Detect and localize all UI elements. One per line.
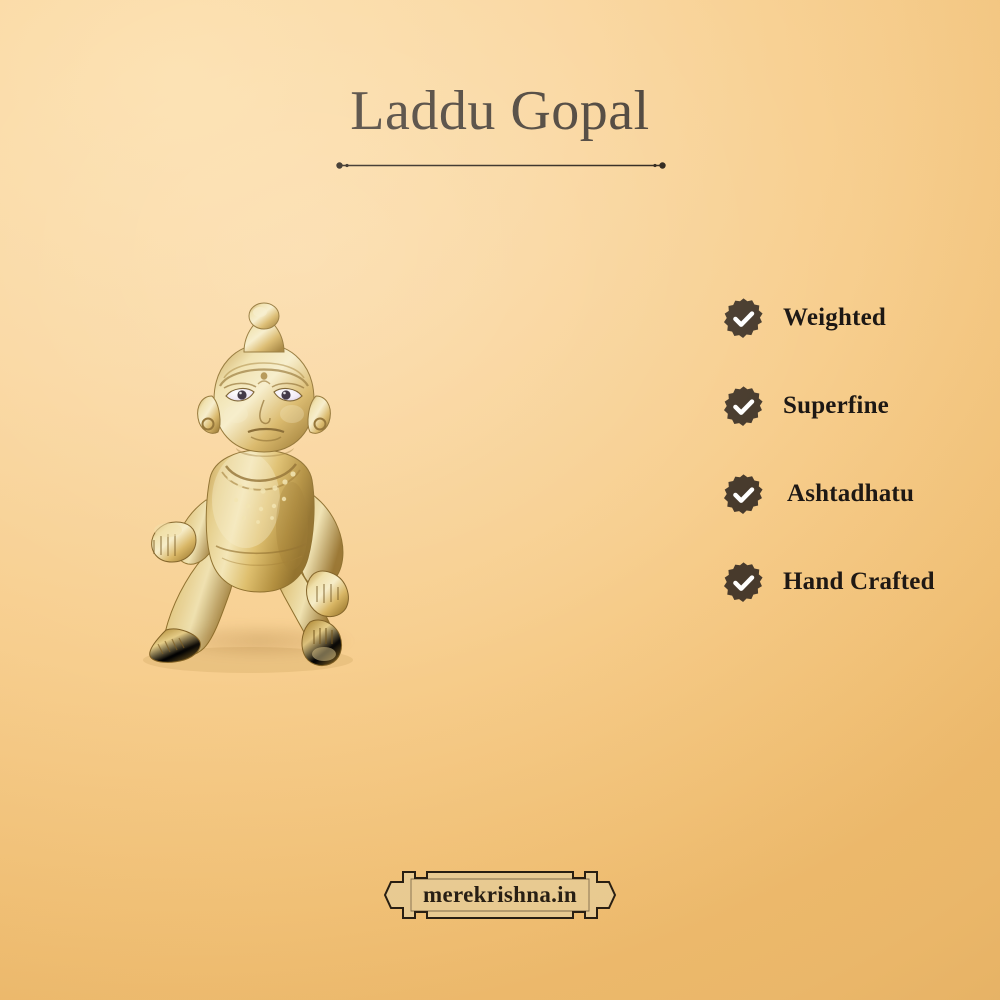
check-badge-icon (722, 297, 765, 340)
page-title: Laddu Gopal (0, 80, 1000, 142)
brand-plaque[interactable]: merekrishna.in (381, 868, 619, 922)
feature-label: Weighted (783, 304, 886, 332)
product-shadow (140, 618, 380, 664)
feature-item-superfine: Superfine (722, 384, 972, 428)
check-badge-icon (722, 473, 765, 516)
feature-list: Weighted Superfine Ashtadhatu (722, 296, 972, 648)
title-block: Laddu Gopal (0, 80, 1000, 142)
feature-item-weighted: Weighted (722, 296, 972, 340)
feature-item-ashtadhatu: Ashtadhatu (722, 472, 972, 516)
product-banner: Laddu Gopal (0, 0, 1000, 1000)
feature-label: Superfine (783, 392, 889, 420)
title-divider (336, 162, 666, 169)
product-image (118, 300, 408, 700)
check-badge-icon (722, 561, 765, 604)
feature-item-hand-crafted: Hand Crafted (722, 560, 972, 604)
brand-name: merekrishna.in (381, 868, 619, 922)
feature-label: Hand Crafted (783, 568, 935, 596)
check-badge-icon (722, 385, 765, 428)
feature-label: Ashtadhatu (787, 480, 914, 508)
